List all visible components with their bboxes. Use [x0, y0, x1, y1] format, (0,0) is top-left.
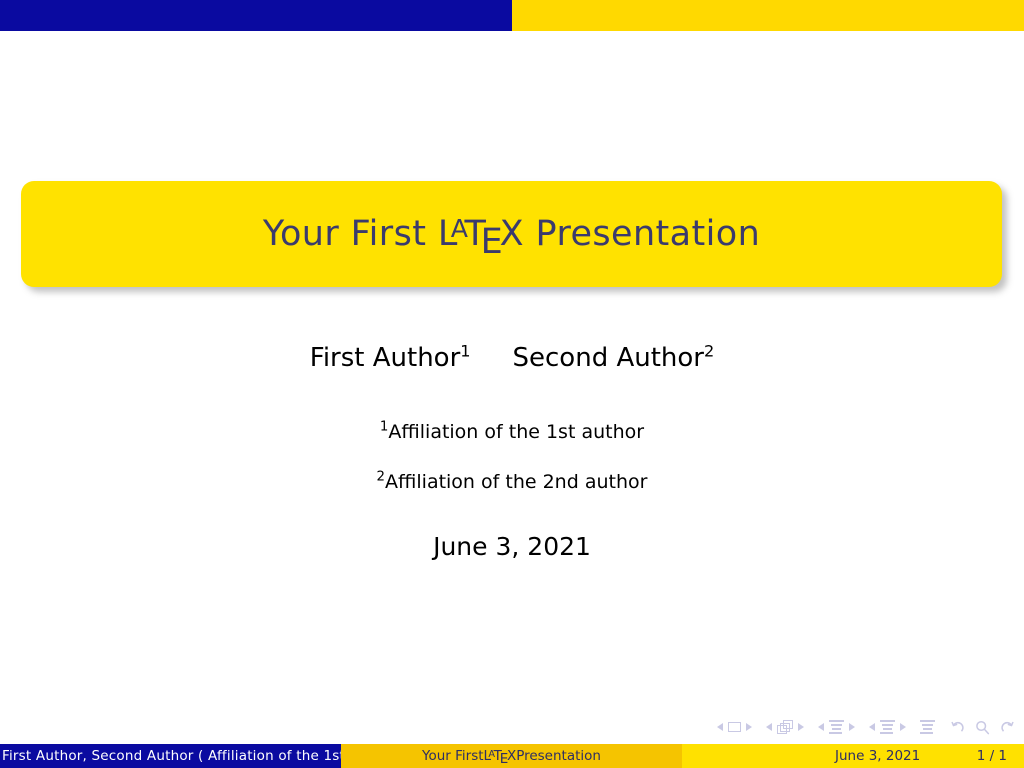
next-subsection-icon[interactable]	[849, 723, 855, 731]
previous-section-icon[interactable]	[869, 723, 875, 731]
footline-title-suffix: Presentation	[516, 748, 601, 764]
author-second-mark: 2	[704, 341, 714, 360]
footline-page-number: 1 / 1	[977, 748, 1007, 764]
frames-icon[interactable]	[777, 720, 793, 734]
frame-navigation-group	[766, 720, 804, 734]
author-second: Second Author2	[513, 343, 715, 373]
footline-latex-logo: LATEX	[484, 748, 517, 764]
slide-icon[interactable]	[728, 722, 741, 732]
section-navigation-group	[869, 720, 906, 734]
document-navigation-group	[920, 720, 935, 734]
forward-icon[interactable]	[999, 719, 1016, 736]
next-section-icon[interactable]	[900, 723, 906, 731]
beamer-navigation-symbols	[717, 714, 1016, 740]
footline: First Author, Second Author ( Affiliatio…	[0, 744, 1024, 768]
affiliation-2-mark: 2	[377, 470, 385, 485]
footline-title-prefix: Your First	[422, 748, 484, 764]
latex-logo-x: X	[500, 214, 524, 254]
document-icon[interactable]	[920, 720, 935, 734]
subsection-navigation-group	[818, 720, 855, 734]
next-slide-icon[interactable]	[746, 723, 752, 731]
previous-slide-icon[interactable]	[717, 723, 723, 731]
title-prefix: Your First	[263, 214, 438, 254]
authors-line: First Author1Second Author2	[0, 343, 1024, 373]
previous-subsection-icon[interactable]	[818, 723, 824, 731]
headline-bar-right-yellow	[512, 0, 1024, 31]
affiliation-2: 2Affiliation of the 2nd author	[0, 471, 1024, 493]
subsection-icon[interactable]	[829, 720, 844, 734]
section-icon[interactable]	[880, 720, 895, 734]
author-first-name: First Author	[310, 343, 461, 373]
previous-frame-icon[interactable]	[766, 723, 772, 731]
latex-logo-e: E	[481, 222, 504, 262]
affiliation-1: 1Affiliation of the 1st author	[0, 421, 1024, 443]
headline-bar	[0, 0, 1024, 31]
affiliation-2-text: Affiliation of the 2nd author	[385, 471, 647, 493]
latex-logo: LATEX	[438, 214, 524, 254]
footline-author: First Author, Second Author ( Affiliatio…	[0, 744, 341, 768]
footline-latex-logo-a: A	[488, 749, 495, 760]
title-suffix: Presentation	[524, 214, 760, 254]
footline-meta: June 3, 2021 1 / 1	[682, 744, 1024, 768]
footline-title: Your First LATEX Presentation	[341, 744, 682, 768]
footline-latex-logo-x: X	[507, 748, 516, 764]
next-frame-icon[interactable]	[798, 723, 804, 731]
history-navigation-group	[949, 719, 1016, 736]
back-icon[interactable]	[949, 719, 966, 736]
page-title: Your First LATEX Presentation	[263, 214, 760, 254]
latex-logo-a: A	[451, 214, 468, 243]
author-first: First Author1	[310, 343, 471, 373]
author-second-name: Second Author	[513, 343, 704, 373]
footline-latex-logo-e: E	[500, 751, 509, 767]
presentation-date: June 3, 2021	[0, 532, 1024, 561]
title-box: Your First LATEX Presentation	[21, 181, 1002, 287]
affiliation-1-text: Affiliation of the 1st author	[388, 421, 644, 443]
author-first-mark: 1	[460, 341, 470, 360]
footline-date: June 3, 2021	[835, 748, 920, 764]
headline-bar-left-blue	[0, 0, 512, 31]
search-icon[interactable]	[974, 719, 991, 736]
slide-navigation-group	[717, 722, 752, 732]
